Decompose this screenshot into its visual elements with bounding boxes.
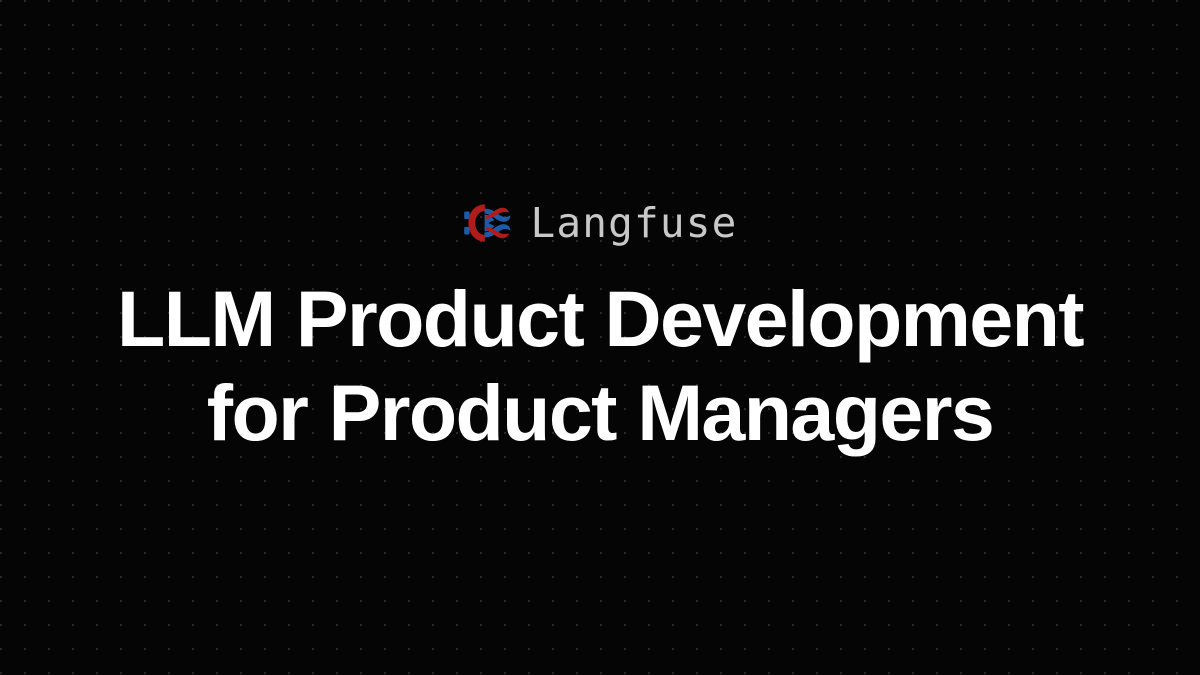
page-title-line-1: LLM Product Development xyxy=(80,272,1120,366)
page-title-line-2: for Product Managers xyxy=(80,366,1120,460)
title-card: Langfuse LLM Product Development for Pro… xyxy=(0,0,1200,675)
brand-wordmark: Langfuse xyxy=(530,203,737,244)
page-title: LLM Product Development for Product Mana… xyxy=(80,272,1120,460)
brand-lockup: Langfuse xyxy=(462,196,737,250)
langfuse-logo-mark-icon xyxy=(462,201,512,245)
